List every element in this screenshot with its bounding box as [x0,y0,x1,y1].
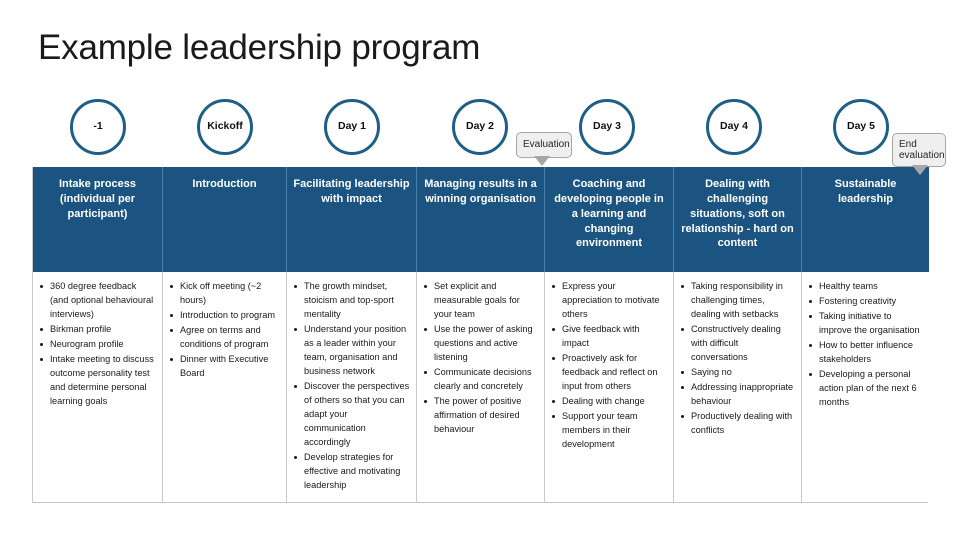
bullet-item: Proactively ask for feedback and reflect… [549,352,668,394]
milestone-circle-2[interactable]: Day 1 [324,99,380,155]
bullet-item: Saying no [678,366,796,380]
column-header-label: Managing results in a winning organisati… [423,177,538,207]
milestone-label: Day 4 [720,121,748,133]
bullet-item: Introduction to program [167,309,281,323]
column-header-4: Coaching and developing people in a lear… [545,167,674,272]
column-header-1: Introduction [163,167,287,272]
column-body-6: Healthy teamsFostering creativityTaking … [802,272,929,502]
bullet-item: Give feedback with impact [549,323,668,351]
milestone-label: Day 3 [593,121,621,133]
milestone-circle-5[interactable]: Day 4 [706,99,762,155]
bullet-list: Express your appreciation to motivate ot… [549,280,668,452]
milestone-label: Day 1 [338,121,366,133]
callout-end-evaluation: End evaluation [892,133,946,167]
column-header-label: Intake process (individual per participa… [39,177,156,222]
bullet-item: Use the power of asking questions and ac… [421,323,539,365]
bullet-item: 360 degree feedback (and optional behavi… [37,280,157,322]
bullet-item: Agree on terms and conditions of program [167,324,281,352]
milestone-circle-1[interactable]: Kickoff [197,99,253,155]
bullet-item: Dinner with Executive Board [167,353,281,381]
bullet-item: Express your appreciation to motivate ot… [549,280,668,322]
bullet-item: Fostering creativity [806,295,924,309]
column-body-4: Express your appreciation to motivate ot… [545,272,674,502]
program-table: Intake process (individual per participa… [32,167,928,503]
milestone-label: -1 [93,121,102,133]
bullet-list: Taking responsibility in challenging tim… [678,280,796,438]
milestone-label: Day 2 [466,121,494,133]
milestone-circle-6[interactable]: Day 5 [833,99,889,155]
column-header-6: Sustainable leadership [802,167,929,272]
callout-evaluation-label: Evaluation [523,139,570,151]
bullet-item: Set explicit and measurable goals for yo… [421,280,539,322]
column-header-label: Facilitating leadership with impact [293,177,410,207]
bullet-item: Discover the perspectives of others so t… [291,380,411,450]
callout-end-evaluation-label: End evaluation [899,139,945,162]
column-body-2: The growth mindset, stoicism and top-spo… [287,272,417,502]
bullet-list: 360 degree feedback (and optional behavi… [37,280,157,409]
column-header-label: Dealing with challenging situations, sof… [680,177,795,251]
column-header-2: Facilitating leadership with impact [287,167,417,272]
callout-pointer-icon [535,157,549,166]
milestone-circle-3[interactable]: Day 2 [452,99,508,155]
bullet-item: Support your team members in their devel… [549,410,668,452]
bullet-list: Set explicit and measurable goals for yo… [421,280,539,437]
table-body-row: 360 degree feedback (and optional behavi… [33,272,927,502]
bullet-item: Productively dealing with conflicts [678,410,796,438]
bullet-list: Healthy teamsFostering creativityTaking … [806,280,924,410]
milestone-circle-4[interactable]: Day 3 [579,99,635,155]
bullet-item: Birkman profile [37,323,157,337]
column-body-5: Taking responsibility in challenging tim… [674,272,802,502]
bullet-item: Neurogram profile [37,338,157,352]
column-body-0: 360 degree feedback (and optional behavi… [33,272,163,502]
column-body-1: Kick off meeting (~2 hours)Introduction … [163,272,287,502]
bullet-item: Understand your position as a leader wit… [291,323,411,379]
milestone-label: Day 5 [847,121,875,133]
milestone-label: Kickoff [207,121,243,133]
bullet-item: Healthy teams [806,280,924,294]
bullet-item: Addressing inappropriate behaviour [678,381,796,409]
column-header-label: Introduction [192,177,256,192]
bullet-item: Develop strategies for effective and mot… [291,451,411,493]
bullet-item: Taking initiative to improve the organis… [806,310,924,338]
bullet-item: Communicate decisions clearly and concre… [421,366,539,394]
column-header-label: Coaching and developing people in a lear… [551,177,667,251]
milestone-timeline: -1KickoffDay 1Day 2Day 3Day 4Day 5 [32,99,928,157]
milestone-circle-0[interactable]: -1 [70,99,126,155]
column-header-0: Intake process (individual per participa… [33,167,163,272]
slide-canvas: Example leadership program -1KickoffDay … [0,0,960,540]
bullet-item: How to better influence stakeholders [806,339,924,367]
callout-pointer-icon [913,166,927,175]
bullet-item: Kick off meeting (~2 hours) [167,280,281,308]
table-header-row: Intake process (individual per participa… [33,167,927,272]
bullet-item: Developing a personal action plan of the… [806,368,924,410]
bullet-list: The growth mindset, stoicism and top-spo… [291,280,411,493]
bullet-item: Constructively dealing with difficult co… [678,323,796,365]
bullet-list: Kick off meeting (~2 hours)Introduction … [167,280,281,381]
page-title: Example leadership program [38,28,480,68]
bullet-item: Taking responsibility in challenging tim… [678,280,796,322]
bullet-item: The power of positive affirmation of des… [421,395,539,437]
column-body-3: Set explicit and measurable goals for yo… [417,272,545,502]
callout-evaluation: Evaluation [516,132,572,158]
column-header-3: Managing results in a winning organisati… [417,167,545,272]
bullet-item: Intake meeting to discuss outcome person… [37,353,157,409]
bullet-item: Dealing with change [549,395,668,409]
bullet-item: The growth mindset, stoicism and top-spo… [291,280,411,322]
column-header-label: Sustainable leadership [808,177,923,207]
column-header-5: Dealing with challenging situations, sof… [674,167,802,272]
